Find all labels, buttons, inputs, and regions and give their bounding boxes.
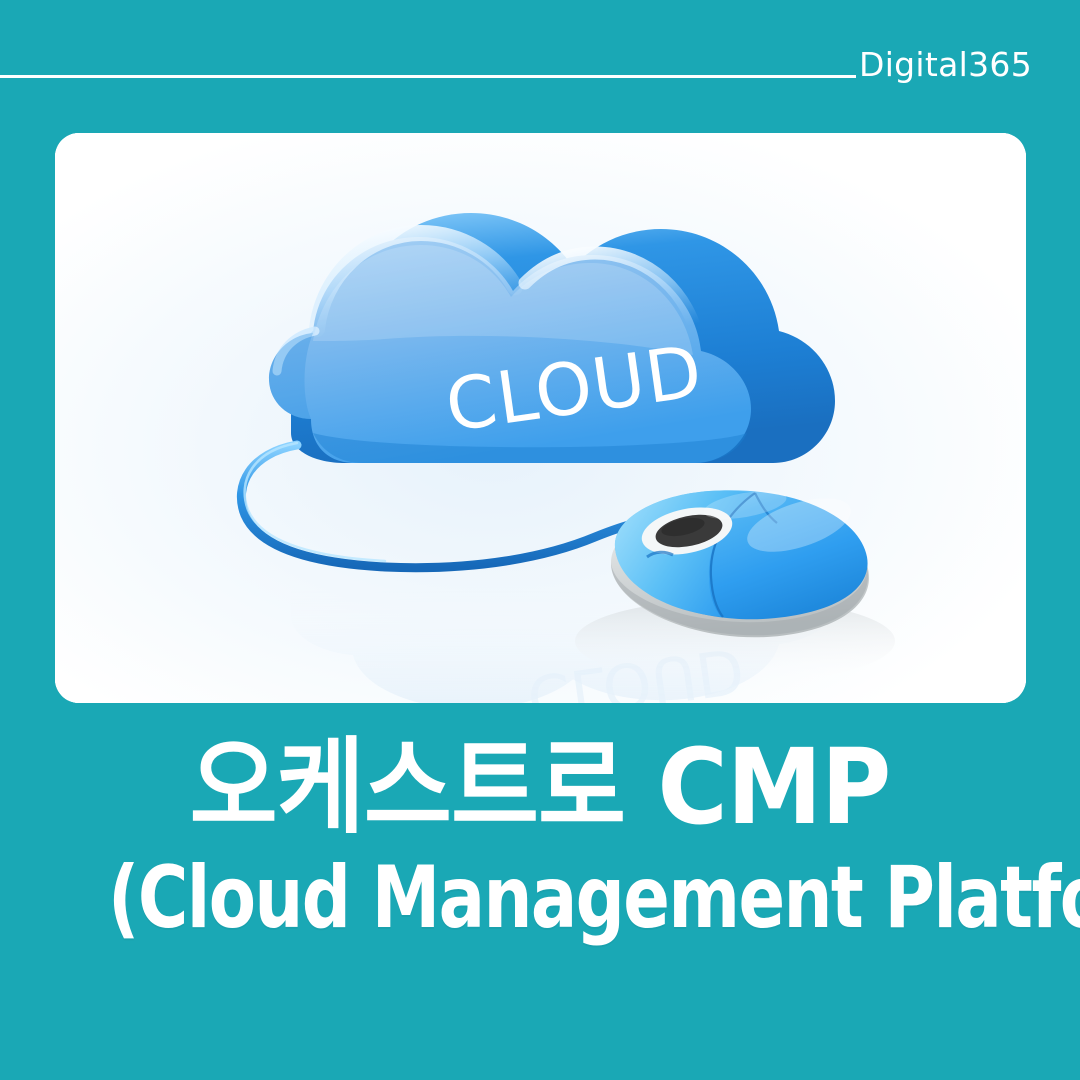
cloud-mouse-illustration: CLOUD CLOU [55, 133, 1026, 703]
brand-logo-text: Digital365 [859, 48, 1032, 81]
page-header: Digital365 [0, 0, 1080, 133]
header-divider-line [0, 75, 856, 78]
title-block: 오케스트로 CMP (Cloud Management Platform) [0, 735, 1080, 941]
hero-image-card: CLOUD CLOU [55, 133, 1026, 703]
page-title: 오케스트로 CMP [43, 735, 1037, 839]
page-subtitle: (Cloud Management Platform) [108, 855, 972, 941]
illustration-stage: CLOUD CLOU [55, 133, 1026, 703]
